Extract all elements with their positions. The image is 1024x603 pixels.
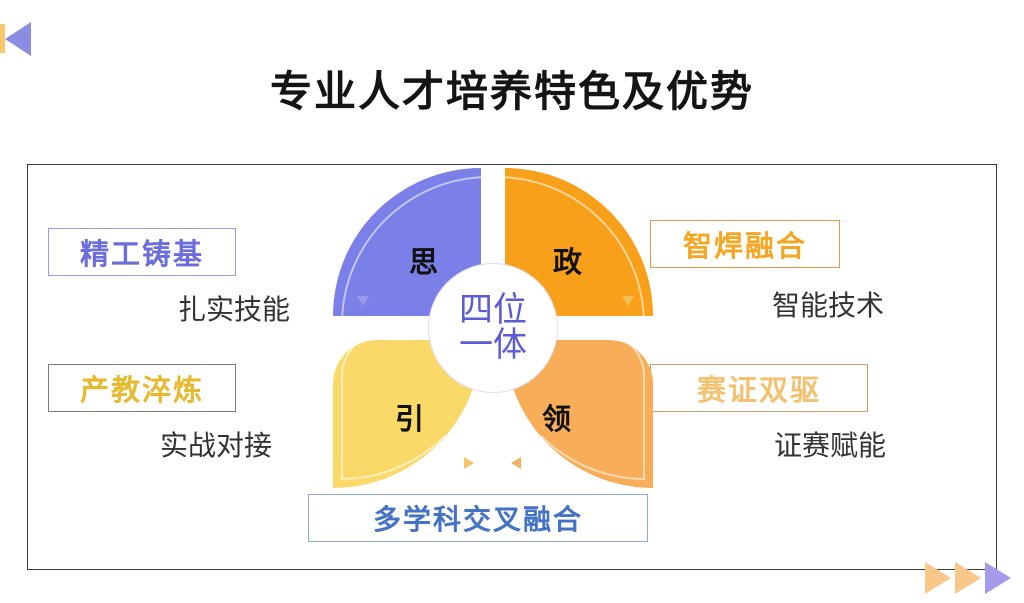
quadrant-label-bottom-left: 引 bbox=[395, 396, 424, 438]
feature-subtitle-top-left: 扎实技能 bbox=[178, 288, 290, 328]
arrow-left-icon bbox=[511, 457, 521, 469]
feature-subtitle-bottom-left: 实战对接 bbox=[160, 424, 272, 464]
slide-canvas: 专业人才培养特色及优势 精工铸基 扎实技能 产教淬炼 实战对接 智焊融合 智能技… bbox=[0, 0, 1024, 603]
center-text-line-1: 四位 bbox=[459, 293, 527, 328]
feature-tag-bottom-center[interactable]: 多学科交叉融合 bbox=[308, 494, 648, 542]
feature-subtitle-bottom-right: 证赛赋能 bbox=[774, 424, 886, 464]
right-triangle-icon-1 bbox=[925, 562, 951, 594]
feature-subtitle-top-right: 智能技术 bbox=[772, 284, 884, 324]
quadrant-label-top-left: 思 bbox=[409, 239, 438, 281]
arrow-up-right-icon bbox=[622, 296, 634, 306]
arrow-up-left-icon bbox=[357, 296, 369, 306]
four-in-one-diagram: 思 政 引 领 四位 一体 bbox=[333, 168, 653, 488]
quadrant-label-bottom-right: 领 bbox=[542, 396, 571, 438]
feature-tag-top-left[interactable]: 精工铸基 bbox=[48, 228, 236, 276]
right-triangle-icon-3 bbox=[985, 562, 1011, 594]
feature-tag-top-right[interactable]: 智焊融合 bbox=[650, 220, 840, 268]
page-title: 专业人才培养特色及优势 bbox=[0, 58, 1024, 119]
feature-tag-bottom-left[interactable]: 产教淬炼 bbox=[48, 364, 236, 412]
left-triangle-icon bbox=[5, 22, 31, 56]
arrow-right-icon bbox=[464, 457, 474, 469]
right-triangle-icon-2 bbox=[955, 562, 981, 594]
diagram-center-hub: 四位 一体 bbox=[428, 263, 558, 393]
center-text-line-2: 一体 bbox=[459, 328, 527, 363]
quadrant-label-top-right: 政 bbox=[553, 239, 582, 281]
feature-tag-bottom-right[interactable]: 赛证双驱 bbox=[650, 364, 868, 412]
